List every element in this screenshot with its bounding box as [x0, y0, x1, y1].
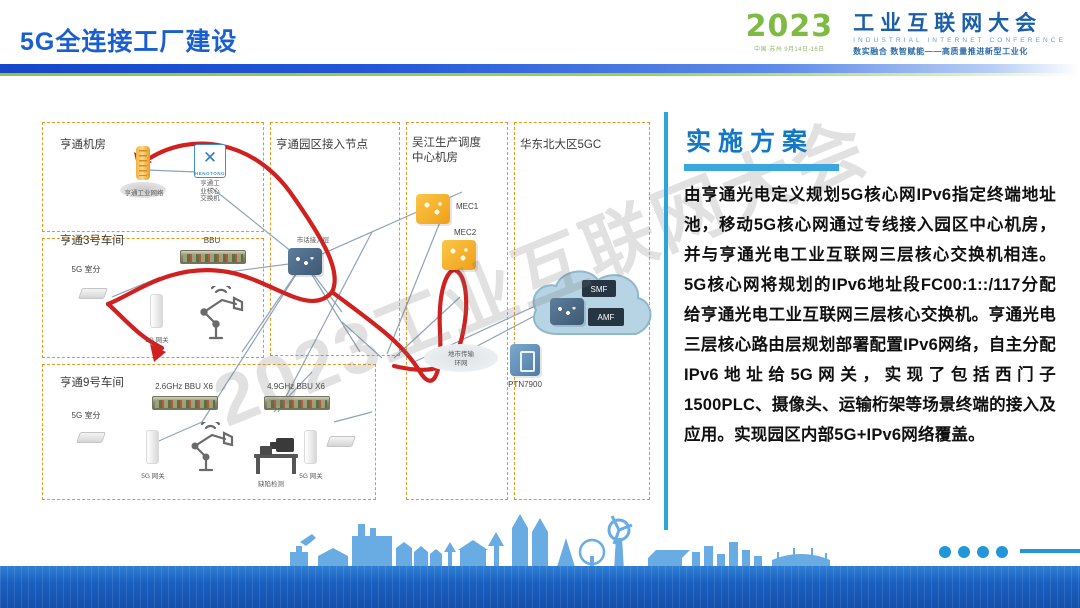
label-gateway-b: 5G 网关 [134, 470, 172, 480]
mec2-icon [442, 240, 476, 270]
logo-name-block: 工业互联网大会 INDUSTRIAL INTERNET CONFERENCE 数… [853, 12, 1066, 57]
implementation-panel: 实施方案 由亨通光电定义规划5G核心网IPv6指定终端地址池，移动5G核心网通过… [664, 112, 1064, 532]
mec1-icon [416, 194, 450, 224]
bbu-icon [180, 250, 246, 264]
page-title: 5G全连接工厂建设 [20, 22, 237, 58]
logo-year-block: 2023 中国·苏州 9月14日-16日 [746, 12, 844, 53]
robot-arm-icon-b [184, 422, 240, 474]
panel-accent-bar [664, 112, 668, 530]
city-skyline-graphic [0, 512, 1080, 570]
logo-year: 2023 [746, 12, 834, 42]
label-industrial-network: 亨通工业网络 [114, 187, 174, 197]
gateway-icon-a [150, 294, 163, 328]
indoor-antenna-icon-a [78, 288, 108, 299]
core-switch-icon: ✕HENGTONG [194, 144, 226, 178]
footer-band [0, 566, 1080, 608]
slide-root: 5G全连接工厂建设 2023 中国·苏州 9月14日-16日 工业互联网大会 I… [0, 0, 1080, 608]
5gc-router-icon [550, 298, 584, 325]
logo-name-en: INDUSTRIAL INTERNET CONFERENCE [853, 37, 1066, 44]
panel-body-text: 由亨通光电定义规划5G核心网IPv6指定终端地址池，移动5G核心网通过专线接入园… [684, 180, 1056, 450]
logo-tagline: 数实融合 数智赋能——高质量推进新型工业化 [853, 46, 1066, 57]
label-core-switch: 亨通工业核心交换机 [188, 180, 232, 203]
label-bbu: BBU [192, 236, 232, 245]
label-bbu-49: 4.9GHz BBU X6 [254, 382, 338, 391]
label-bbu-26: 2.6GHz BBU X6 [142, 382, 226, 391]
panel-title: 实施方案 [686, 122, 814, 158]
label-mec2: MEC2 [454, 228, 476, 237]
logo-city-date: 中国·苏州 9月14日-16日 [746, 44, 834, 53]
indoor-antenna-icon-b [76, 432, 106, 443]
logo-name-cn: 工业互联网大会 [853, 12, 1066, 35]
label-defect-check: 缺陷检测 [248, 478, 294, 488]
conference-logo: 2023 中国·苏州 9月14日-16日 工业互联网大会 INDUSTRIAL … [746, 12, 1066, 64]
gateway-icon-b [146, 430, 159, 464]
label-gateway-c: 5G 网关 [292, 470, 330, 480]
label-gateway-a: 5G 网关 [138, 334, 176, 344]
label-amf: AMF [588, 313, 624, 322]
gateway-icon-c [304, 430, 317, 464]
panel-title-underline [684, 164, 839, 171]
label-smf: SMF [582, 285, 616, 294]
bbu-26-icon [152, 396, 218, 410]
bbu-49-icon [264, 396, 330, 410]
signal-wave-icon-a [86, 300, 104, 314]
label-ptn: PTN7900 [496, 380, 554, 389]
label-mec1: MEC1 [456, 202, 478, 211]
label-access-layer: 市话接入层 [282, 234, 344, 244]
5gc-cloud-icon [524, 260, 664, 352]
label-indoor-5g-b: 5G 室分 [62, 410, 110, 421]
label-transport-ring: 地市传输环网 [434, 350, 488, 368]
label-indoor-5g-a: 5G 室分 [62, 264, 110, 275]
header-rule-green [0, 73, 1080, 76]
server-icon [136, 146, 150, 180]
network-diagram: 亨通机房 亨通3号车间 亨通9号车间 亨通园区接入节点 吴江生产调度中心机房 华… [42, 122, 650, 510]
access-router-icon [288, 248, 322, 275]
signal-wave-icon-b [84, 444, 102, 458]
header-rule-blue [0, 64, 1080, 73]
robot-arm-icon-a [192, 286, 252, 342]
